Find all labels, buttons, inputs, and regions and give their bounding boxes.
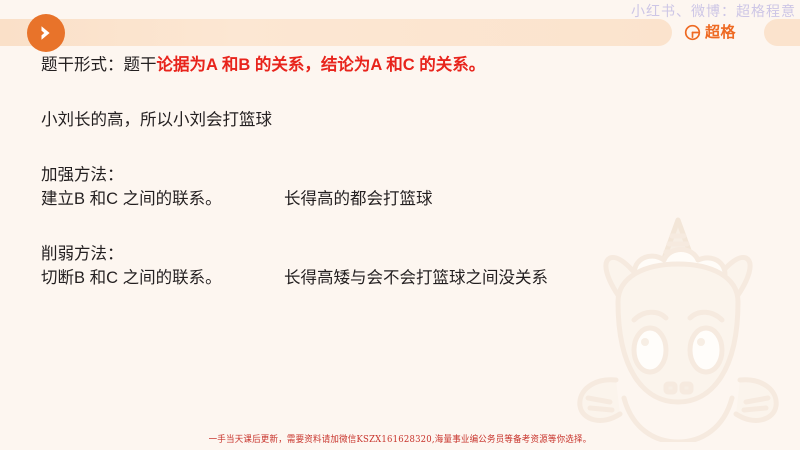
title-line: 题干形式：题干论据为A 和B 的关系，结论为A 和C 的关系。: [41, 54, 761, 78]
slide-canvas: 小红书、微博：超格程意 超格: [0, 0, 800, 450]
chevron-right-icon: [27, 14, 65, 52]
social-watermark: 小红书、微博：超格程意: [631, 1, 796, 21]
strengthen-heading: 加强方法：: [41, 164, 761, 188]
logo-g-icon: [684, 24, 701, 41]
slide-content: 题干形式：题干论据为A 和B 的关系，结论为A 和C 的关系。 小刘长的高，所以…: [41, 54, 761, 291]
footer-promo-text: 一手当天课后更新，需要资料请加微信KSZX161628320,海量事业编公务员等…: [209, 433, 592, 446]
strengthen-example: 长得高的都会打篮球: [284, 188, 761, 212]
logo-text: 超格: [705, 25, 736, 40]
weaken-example: 长得高矮与会不会打篮球之间没关系: [284, 267, 761, 291]
example-line: 小刘长的高，所以小刘会打篮球: [41, 109, 761, 133]
title-prefix: 题干形式：题干: [41, 56, 157, 74]
header-band-right-segment: [764, 19, 800, 46]
spacer-3: [41, 212, 761, 243]
brand-logo: 超格: [684, 24, 736, 41]
strengthen-method: 建立B 和C 之间的联系。: [41, 188, 284, 212]
weaken-row: 切断B 和C 之间的联系。 长得高矮与会不会打篮球之间没关系: [41, 267, 761, 291]
footer: 一手当天课后更新，需要资料请加微信KSZX161628320,海量事业编公务员等…: [0, 429, 800, 447]
spacer-2: [41, 133, 761, 164]
strengthen-row: 建立B 和C 之间的联系。 长得高的都会打篮球: [41, 188, 761, 212]
header-band: [0, 19, 800, 46]
title-highlight: 论据为A 和B 的关系，结论为A 和C 的关系。: [157, 56, 486, 74]
weaken-method: 切断B 和C 之间的联系。: [41, 267, 284, 291]
weaken-heading: 削弱方法：: [41, 243, 761, 267]
spacer-1: [41, 78, 761, 109]
header-band-left-segment: [0, 19, 672, 46]
